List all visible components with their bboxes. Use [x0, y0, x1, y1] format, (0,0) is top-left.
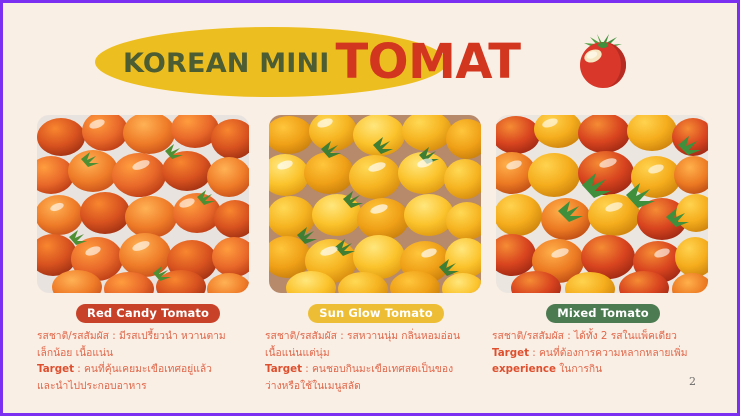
- tomato-icon: [572, 32, 634, 90]
- title-korean-mini: KOREAN MINI: [123, 48, 330, 79]
- description-red-candy: รสชาติ/รสสัมผัส : มีรสเปรี้ยวนำ หวานตาม …: [37, 328, 263, 394]
- desc-line: เล็กน้อย เนื้อแน่น: [37, 345, 263, 362]
- desc-line-text: : คนที่คุ้นเคยมะเขือเทศอยู่แล้ว: [74, 363, 212, 375]
- photo-mixed-tomatoes: [496, 115, 708, 293]
- status-badge-red-candy: Red Candy Tomato: [76, 304, 220, 323]
- slide-header: KOREAN MINI TOMAT: [3, 3, 737, 111]
- slide-canvas: KOREAN MINI TOMAT: [0, 0, 740, 416]
- page-title: KOREAN MINI TOMAT: [123, 36, 521, 90]
- desc-line: รสชาติ/รสสัมผัส : รสหวานนุ่ม กลิ่นหอมอ่อ…: [265, 328, 491, 345]
- product-column-sun-glow: Sun Glow Tomato รสชาติ/รสสัมผัส : รสหวาน…: [265, 115, 487, 394]
- desc-keyword: Target: [37, 363, 74, 375]
- description-mixed: รสชาติ/รสสัมผัส : ได้ทั้ง 2 รสในแพ็คเดีย…: [492, 328, 724, 378]
- desc-line-text: : คนชอบกินมะเขือเทศสดเป็นของ: [302, 363, 453, 375]
- photo-red-candy-tomatoes: [37, 115, 249, 293]
- badge-row-red-candy: Red Candy Tomato: [37, 302, 259, 321]
- desc-keyword: Target: [265, 363, 302, 375]
- badge-row-sun-glow: Sun Glow Tomato: [265, 302, 487, 321]
- desc-keyword: experience: [492, 363, 556, 375]
- desc-line-text: : คนที่ต้องการความหลากหลายเพิ่ม: [529, 347, 688, 359]
- desc-keyword: Target: [492, 347, 529, 359]
- desc-line: รสชาติ/รสสัมผัส : ได้ทั้ง 2 รสในแพ็คเดีย…: [492, 328, 724, 345]
- status-badge-sun-glow: Sun Glow Tomato: [308, 304, 443, 323]
- desc-line: Target : คนชอบกินมะเขือเทศสดเป็นของ: [265, 361, 491, 378]
- description-sun-glow: รสชาติ/รสสัมผัส : รสหวานนุ่ม กลิ่นหอมอ่อ…: [265, 328, 491, 394]
- desc-line: Target : คนที่ต้องการความหลากหลายเพิ่ม: [492, 345, 724, 362]
- desc-line: รสชาติ/รสสัมผัส : มีรสเปรี้ยวนำ หวานตาม: [37, 328, 263, 345]
- desc-line: และนำไปประกอบอาหาร: [37, 378, 263, 395]
- photo-sun-glow-tomatoes: [269, 115, 481, 293]
- desc-line: เนื้อแน่นแต่นุ่ม: [265, 345, 491, 362]
- desc-line: ว่างหรือใช้ในเมนูสลัด: [265, 378, 491, 395]
- badge-row-mixed: Mixed Tomato: [492, 302, 714, 321]
- product-column-red-candy: Red Candy Tomato รสชาติ/รสสัมผัส : มีรสเ…: [37, 115, 259, 394]
- desc-line: Target : คนที่คุ้นเคยมะเขือเทศอยู่แล้ว: [37, 361, 263, 378]
- desc-line-text: ในการกิน: [556, 363, 602, 375]
- product-column-mixed: Mixed Tomato รสชาติ/รสสัมผัส : ได้ทั้ง 2…: [492, 115, 714, 378]
- title-tomato-word: TOMAT: [336, 38, 521, 86]
- page-number: 2: [689, 375, 696, 388]
- status-badge-mixed: Mixed Tomato: [546, 304, 659, 323]
